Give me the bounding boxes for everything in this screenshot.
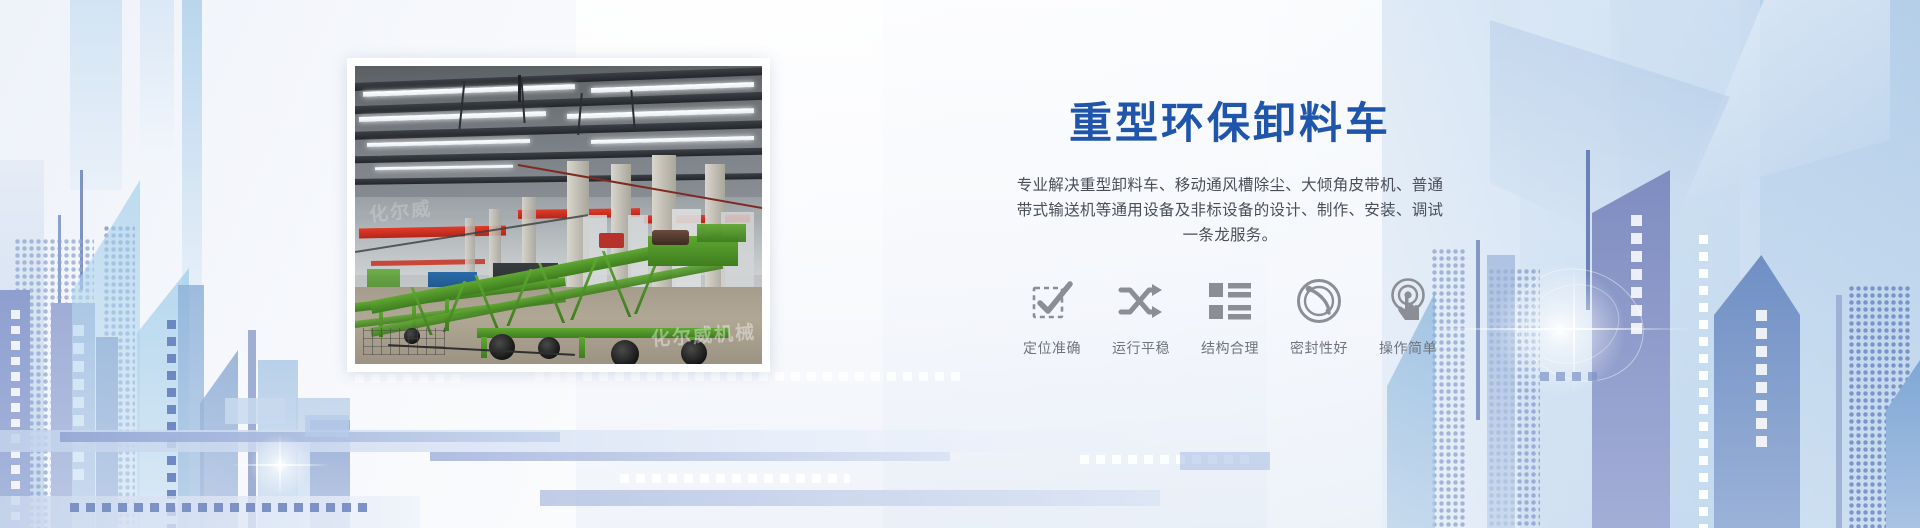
- feature-label: 操作简单: [1366, 338, 1450, 358]
- feature-item-structure[interactable]: 结构合理: [1188, 274, 1272, 358]
- seal-circle-icon: [1277, 274, 1361, 328]
- left-cityscape-decoration: [0, 0, 1920, 528]
- feature-label: 定位准确: [1010, 338, 1094, 358]
- shuffle-arrows-icon: [1099, 274, 1183, 328]
- checkbox-check-icon: [1010, 274, 1094, 328]
- lens-flare: [1485, 255, 1635, 405]
- feature-item-easy-operation[interactable]: 操作简单: [1366, 274, 1450, 358]
- feature-item-positioning[interactable]: 定位准确: [1010, 274, 1094, 358]
- product-photo: 化尔威机械 化尔威: [355, 66, 762, 364]
- banner-subtitle: 专业解决重型卸料车、移动通风槽除尘、大倾角皮带机、普通带式输送机等通用设备及非标…: [1010, 173, 1450, 248]
- feature-label: 运行平稳: [1099, 338, 1183, 358]
- feature-list: 定位准确 运行平稳: [1010, 274, 1450, 358]
- feature-item-smooth-operation[interactable]: 运行平稳: [1099, 274, 1183, 358]
- feature-label: 密封性好: [1277, 338, 1361, 358]
- hero-banner: 化尔威机械 化尔威 重型环保卸料车 专业解决重型卸料车、移动通风槽除尘、大倾角皮…: [0, 0, 1920, 528]
- right-cityscape-decoration: [0, 0, 1920, 528]
- tap-hand-icon: [1366, 274, 1450, 328]
- lower-band-decoration: [0, 0, 1920, 528]
- banner-content: 重型环保卸料车 专业解决重型卸料车、移动通风槽除尘、大倾角皮带机、普通带式输送机…: [1010, 100, 1450, 358]
- list-blocks-icon: [1188, 274, 1272, 328]
- feature-label: 结构合理: [1188, 338, 1272, 358]
- page-title: 重型环保卸料车: [1010, 100, 1450, 149]
- background-gradient: [0, 0, 1920, 528]
- product-photo-frame[interactable]: 化尔威机械 化尔威: [347, 58, 770, 372]
- feature-item-sealing[interactable]: 密封性好: [1277, 274, 1361, 358]
